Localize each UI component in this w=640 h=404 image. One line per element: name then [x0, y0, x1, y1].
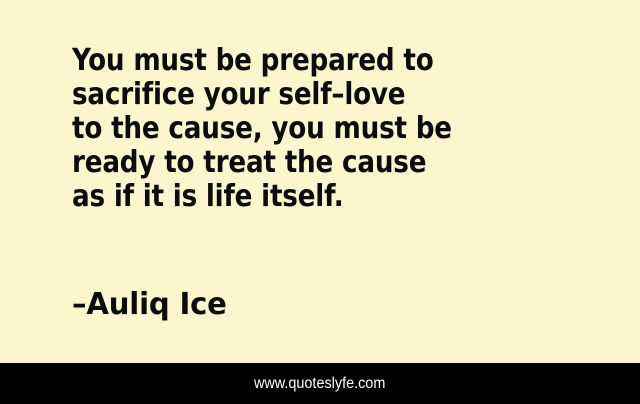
footer-bar: www.quoteslyfe.com: [0, 363, 640, 404]
quote-text: You must be prepared to sacrifice your s…: [72, 44, 563, 214]
quote-body: You must be prepared to sacrifice your s…: [72, 44, 586, 214]
quote-card: You must be prepared to sacrifice your s…: [0, 0, 640, 404]
footer-website-url[interactable]: www.quoteslyfe.com: [254, 375, 385, 393]
quote-author: –Auliq Ice: [72, 288, 227, 322]
